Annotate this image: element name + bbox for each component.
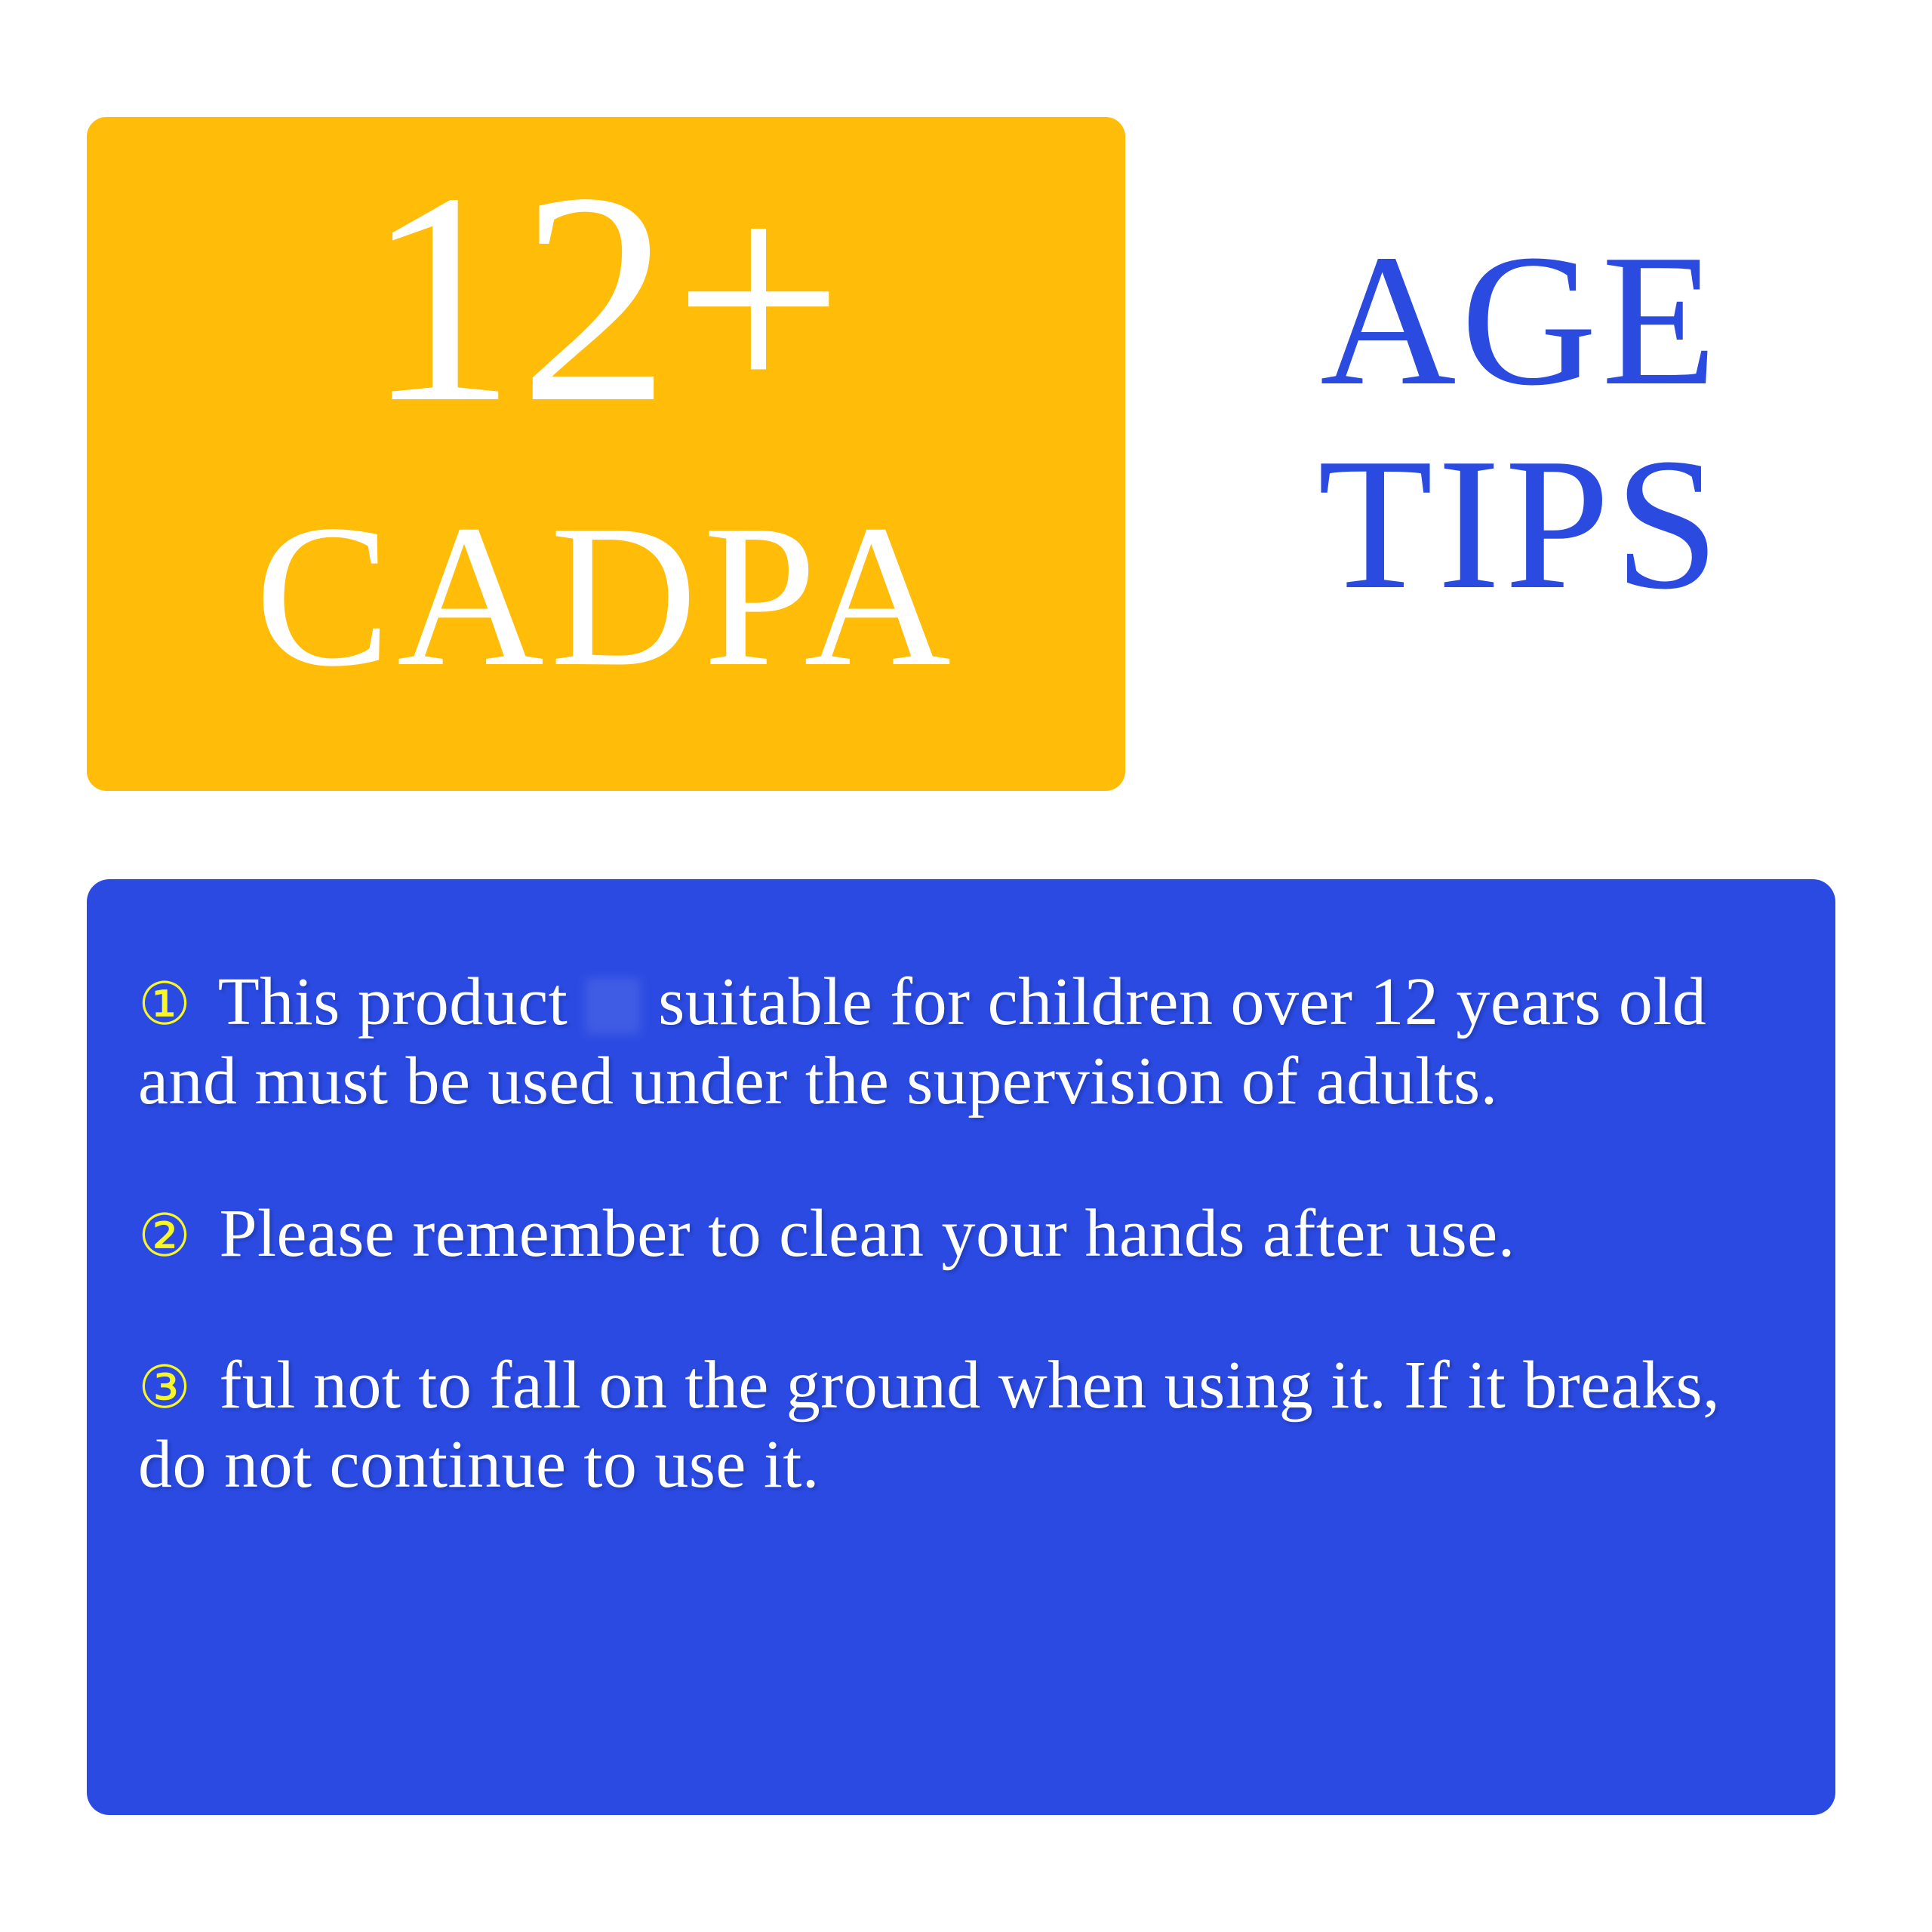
cadpa-organization-label: CADPA — [87, 494, 1125, 698]
page-title-line-2: TIPS — [1162, 423, 1879, 626]
age-tips-panel: ① This product is suitable for children … — [87, 879, 1835, 1815]
cadpa-age-badge: 12+ CADPA — [87, 117, 1125, 791]
page-title: AGE TIPS — [1162, 219, 1879, 626]
tip-marker-3-icon: ③ — [138, 1354, 191, 1422]
page-title-line-1: AGE — [1162, 219, 1879, 423]
redacted-word-icon: is — [585, 977, 641, 1035]
tip-text-1-before: This product — [202, 964, 585, 1039]
tip-marker-2-icon: ② — [138, 1202, 191, 1270]
age-rating-label: 12+ — [87, 147, 1125, 449]
tip-item-2: ② Please remember to clean your hands af… — [138, 1194, 1783, 1273]
tip-text-2: Please remember to clean your hands afte… — [202, 1196, 1515, 1271]
age-tips-poster: 12+ CADPA AGE TIPS ① This product is sui… — [0, 0, 1932, 1932]
tip-item-3: ③ ful not to fall on the ground when usi… — [138, 1346, 1783, 1505]
tip-item-1: ① This product is suitable for children … — [138, 962, 1783, 1121]
tip-marker-1-icon: ① — [138, 971, 191, 1038]
tip-text-3: ful not to fall on the ground when using… — [138, 1348, 1720, 1502]
